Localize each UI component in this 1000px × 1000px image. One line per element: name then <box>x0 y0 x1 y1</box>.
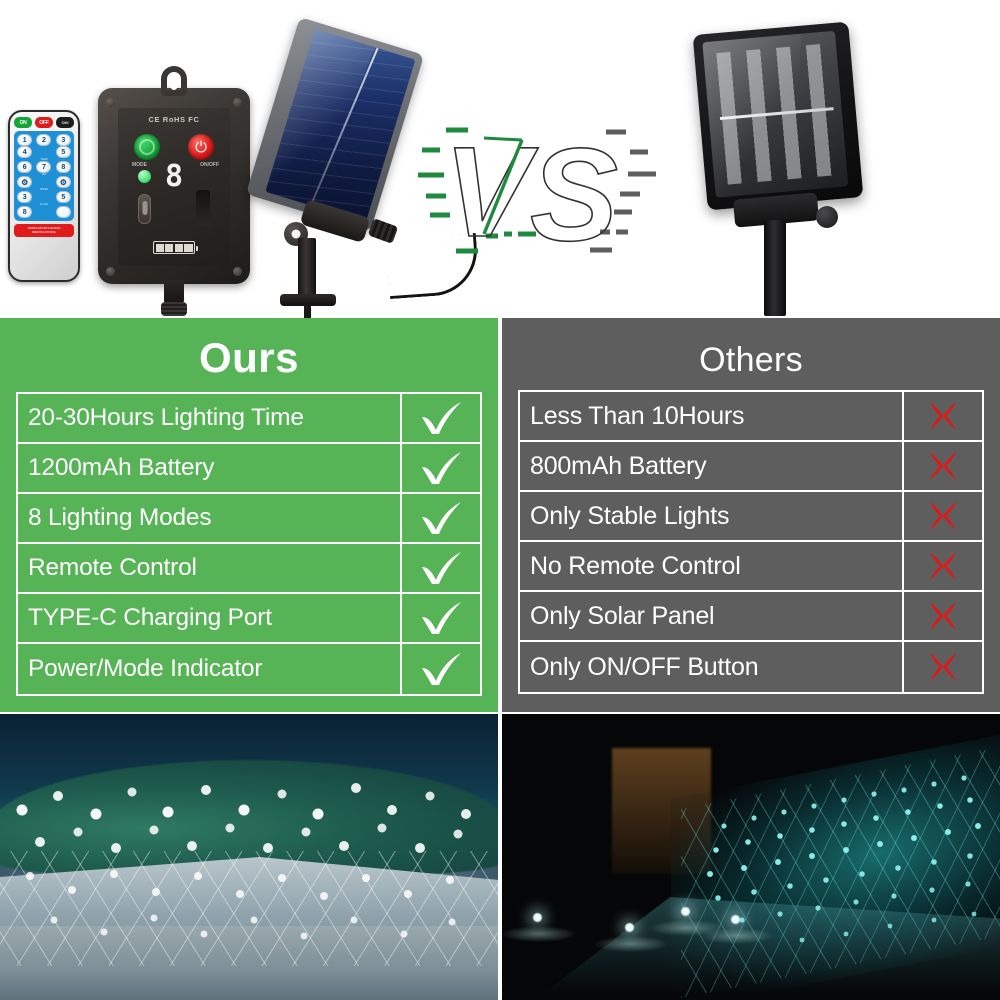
feature-label: Power/Mode Indicator <box>18 644 400 694</box>
comparison-column-others: Others Less Than 10Hours 800mAh Battery <box>502 318 1000 712</box>
table-row: Power/Mode Indicator <box>18 644 480 694</box>
remote-key-row-3: 6 7 8 <box>16 161 72 173</box>
battery-cell <box>165 244 173 252</box>
comparison-section: Ours 20-30Hours Lighting Time 1200mAh Ba… <box>0 318 1000 712</box>
check-icon <box>418 450 464 486</box>
remote-dim-button[interactable]: DIM <box>56 117 74 128</box>
check-icon <box>418 400 464 436</box>
cross-cell <box>902 542 982 590</box>
cross-cell <box>902 442 982 490</box>
mode-circle-icon[interactable] <box>36 206 51 218</box>
remote-key-3b[interactable]: 3 <box>17 191 32 203</box>
table-row: Only Stable Lights <box>520 492 982 542</box>
table-row: TYPE-C Charging Port <box>18 594 480 644</box>
table-row: No Remote Control <box>520 542 982 592</box>
hero-product-section: ON OFF DIM 1 2 3 4 5 TIMER 6 7 <box>0 0 1000 318</box>
cross-cell <box>902 392 982 440</box>
ours-title: Ours <box>16 318 482 382</box>
cross-icon <box>925 500 961 532</box>
solar-panel-ours <box>262 26 432 316</box>
panel-gloss <box>702 31 801 198</box>
panel-gloss <box>265 29 379 222</box>
table-row: 8 Lighting Modes <box>18 494 480 544</box>
cross-cell <box>902 642 982 692</box>
battery-cell <box>175 244 183 252</box>
remote-key-row-4: ⚙ ⚙ <box>16 176 72 188</box>
remote-key-3[interactable]: 3 <box>56 134 71 146</box>
table-row: Less Than 10Hours <box>520 392 982 442</box>
check-cell <box>400 644 480 694</box>
teal-led-dots <box>502 714 1000 1000</box>
feature-label: Less Than 10Hours <box>520 392 902 440</box>
screw-bottom-right <box>233 267 242 276</box>
solar-cell-surface-blue <box>265 29 415 222</box>
remote-key-2[interactable]: 2 <box>36 134 51 146</box>
remote-key-row-6: 8 <box>16 206 72 218</box>
remote-control: ON OFF DIM 1 2 3 4 5 TIMER 6 7 <box>8 110 80 282</box>
cross-cell <box>902 592 982 640</box>
check-icon <box>418 550 464 586</box>
remote-key-row-5: 3 5 <box>16 191 72 203</box>
vs-letter-s: S <box>530 121 618 268</box>
battery-cell <box>184 244 192 252</box>
ground-stake-stem <box>764 220 786 316</box>
remote-keypad: 1 2 3 4 5 TIMER 6 7 8 DIM ⚙ <box>14 131 74 221</box>
solar-cell-surface-dark <box>702 31 848 198</box>
check-cell <box>400 494 480 542</box>
remote-top-button-row: ON OFF DIM <box>14 117 74 128</box>
screw-top-left <box>106 98 115 107</box>
photo-teal-net-lights-slope <box>502 714 1000 1000</box>
remote-off-button[interactable]: OFF <box>35 117 53 128</box>
others-title: Others <box>518 318 984 380</box>
gear-right-icon[interactable]: ⚙ <box>56 176 71 188</box>
status-led <box>138 170 151 183</box>
check-cell <box>400 444 480 492</box>
flash-icon[interactable] <box>36 191 51 203</box>
table-row: Remote Control <box>18 544 480 594</box>
remote-on-button[interactable]: ON <box>14 117 32 128</box>
white-led-dots <box>0 714 498 1000</box>
check-icon <box>418 651 464 687</box>
ours-feature-table: 20-30Hours Lighting Time 1200mAh Battery <box>16 392 482 696</box>
feature-label: Only Solar Panel <box>520 592 902 640</box>
remote-key-5b[interactable]: 5 <box>56 191 71 203</box>
controller-cable-gland <box>164 280 184 306</box>
cross-icon <box>925 550 961 582</box>
feature-label: Only ON/OFF Button <box>520 642 902 692</box>
table-row: Only Solar Panel <box>520 592 982 642</box>
screw-bottom-left <box>106 267 115 276</box>
check-cell <box>400 394 480 442</box>
hanging-hook <box>161 66 187 96</box>
ground-stake-spike <box>304 304 311 318</box>
remote-key-row-1: 1 2 3 <box>16 134 72 146</box>
remote-key-8[interactable]: 8 <box>56 161 71 173</box>
gear-left-icon[interactable]: ⚙ <box>17 176 32 188</box>
remote-key-4[interactable]: 4 <box>17 146 32 158</box>
contrast-icon[interactable] <box>36 176 51 188</box>
battery-indicator <box>153 241 195 254</box>
side-port <box>196 190 210 226</box>
feature-label: 20-30Hours Lighting Time <box>18 394 400 442</box>
remote-key-8b[interactable]: 8 <box>17 206 32 218</box>
screw-top-right <box>233 98 242 107</box>
feature-label: 8 Lighting Modes <box>18 494 400 542</box>
mode-button-label: MODE <box>132 162 147 168</box>
versus-graphic: V S <box>418 108 658 273</box>
feature-label: No Remote Control <box>520 542 902 590</box>
cross-icon <box>925 600 961 632</box>
panel-adjust-knob <box>816 206 838 228</box>
remote-key-6[interactable]: 6 <box>17 161 32 173</box>
feature-label: TYPE-C Charging Port <box>18 594 400 642</box>
table-row: 1200mAh Battery <box>18 444 480 494</box>
check-icon <box>418 600 464 636</box>
type-c-charging-port <box>138 194 151 224</box>
remote-key-row-2: 4 5 <box>16 146 72 158</box>
vs-letter-v: V <box>444 121 539 264</box>
controller-faceplate: CE RoHS FC ⏻ MODE ON/OFF 8 <box>118 108 230 266</box>
solar-panel-others <box>690 24 880 318</box>
feature-label: 800mAh Battery <box>520 442 902 490</box>
ground-stake-stem <box>298 238 316 300</box>
cross-icon <box>925 400 961 432</box>
seven-segment-display: 8 <box>165 162 183 192</box>
power-button[interactable]: ⏻ <box>188 134 214 160</box>
cross-icon <box>925 651 961 683</box>
remote-key-5[interactable]: 5 <box>56 146 71 158</box>
versus-svg: V S <box>418 108 658 273</box>
vs-v-top-accent <box>484 138 522 140</box>
solar-panel-others-head <box>693 22 864 211</box>
solar-panel-ours-head <box>246 17 424 232</box>
check-icon <box>418 500 464 536</box>
battery-cell <box>156 244 164 252</box>
remote-key-1[interactable]: 1 <box>17 134 32 146</box>
mode-button[interactable] <box>134 134 160 160</box>
remote-warning-banner: WORKS WITHIN 5 METERS REMOTE CONTROL <box>14 224 74 237</box>
cross-icon <box>925 450 961 482</box>
table-row: Only ON/OFF Button <box>520 642 982 692</box>
comparison-column-ours: Ours 20-30Hours Lighting Time 1200mAh Ba… <box>0 318 498 712</box>
feature-label: Only Stable Lights <box>520 492 902 540</box>
check-cell <box>400 544 480 592</box>
remote-banner-line-2: REMOTE CONTROL <box>32 231 56 234</box>
feature-label: 1200mAh Battery <box>18 444 400 492</box>
table-row: 800mAh Battery <box>520 442 982 492</box>
remote-key-7[interactable]: 7 <box>36 161 51 173</box>
photo-gallery <box>0 712 1000 1000</box>
power-button-label: ON/OFF <box>200 162 219 168</box>
brightness-icon[interactable] <box>36 146 51 158</box>
cross-cell <box>902 492 982 540</box>
certification-marks: CE RoHS FC <box>118 115 230 124</box>
solar-controller-box: CE RoHS FC ⏻ MODE ON/OFF 8 <box>98 88 250 284</box>
remote-power-key[interactable] <box>56 206 71 218</box>
check-cell <box>400 594 480 642</box>
photo-white-net-lights-hedge <box>0 714 498 1000</box>
product-comparison-image: ON OFF DIM 1 2 3 4 5 TIMER 6 7 <box>0 0 1000 1000</box>
feature-label: Remote Control <box>18 544 400 592</box>
table-row: 20-30Hours Lighting Time <box>18 394 480 444</box>
others-feature-table: Less Than 10Hours 800mAh Battery <box>518 390 984 694</box>
